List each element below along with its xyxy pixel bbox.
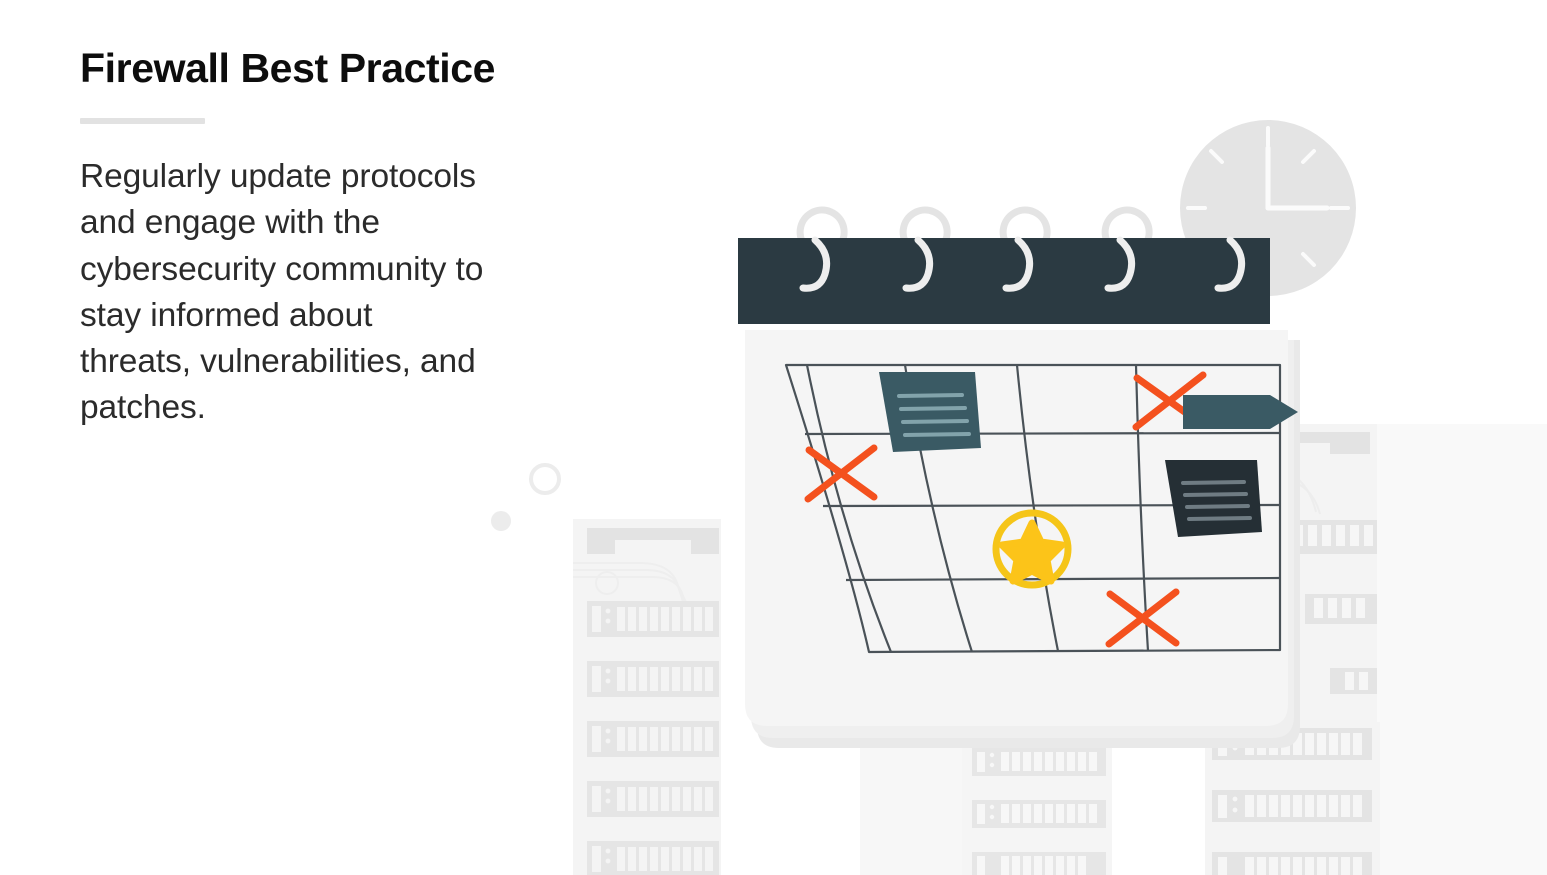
flag-marker: [1183, 395, 1298, 429]
cross-mark-bottom: [1109, 592, 1176, 644]
decor-ring: [531, 465, 559, 493]
decor-dot: [491, 511, 511, 531]
calendar-spiral-rings-back: [800, 210, 1259, 254]
sticky-note-dark: [1165, 460, 1262, 537]
server-rack-left: [573, 519, 721, 875]
calendar-page-shadow-mid: [751, 340, 1294, 738]
server-rack-middle: [962, 742, 1112, 875]
star-badge: [996, 513, 1068, 585]
calendar-page-front: [745, 330, 1288, 726]
calendar-header-bar: [738, 238, 1270, 324]
text-block: Firewall Best Practice Regularly update …: [80, 44, 660, 432]
slide-canvas: Firewall Best Practice Regularly update …: [0, 0, 1547, 875]
body-copy: Regularly update protocols and engage wi…: [80, 154, 660, 431]
calendar-page-shadow-back: [757, 340, 1300, 748]
title-divider: [80, 118, 205, 124]
cross-mark-top-right: [1136, 375, 1203, 427]
calendar-spiral-rings-front: [803, 240, 1242, 288]
sticky-note-teal: [879, 372, 981, 452]
page-title: Firewall Best Practice: [80, 44, 660, 93]
server-rack-right: [1205, 722, 1380, 875]
right-background-panel: [1376, 424, 1547, 875]
server-rack-middle-back: [860, 700, 1050, 875]
server-rack-upper-right: [1262, 424, 1377, 724]
rack-units-left: [587, 601, 719, 875]
calendar-grid: [786, 365, 1280, 652]
cross-mark-left: [808, 448, 874, 499]
clock-icon: [1180, 120, 1356, 296]
